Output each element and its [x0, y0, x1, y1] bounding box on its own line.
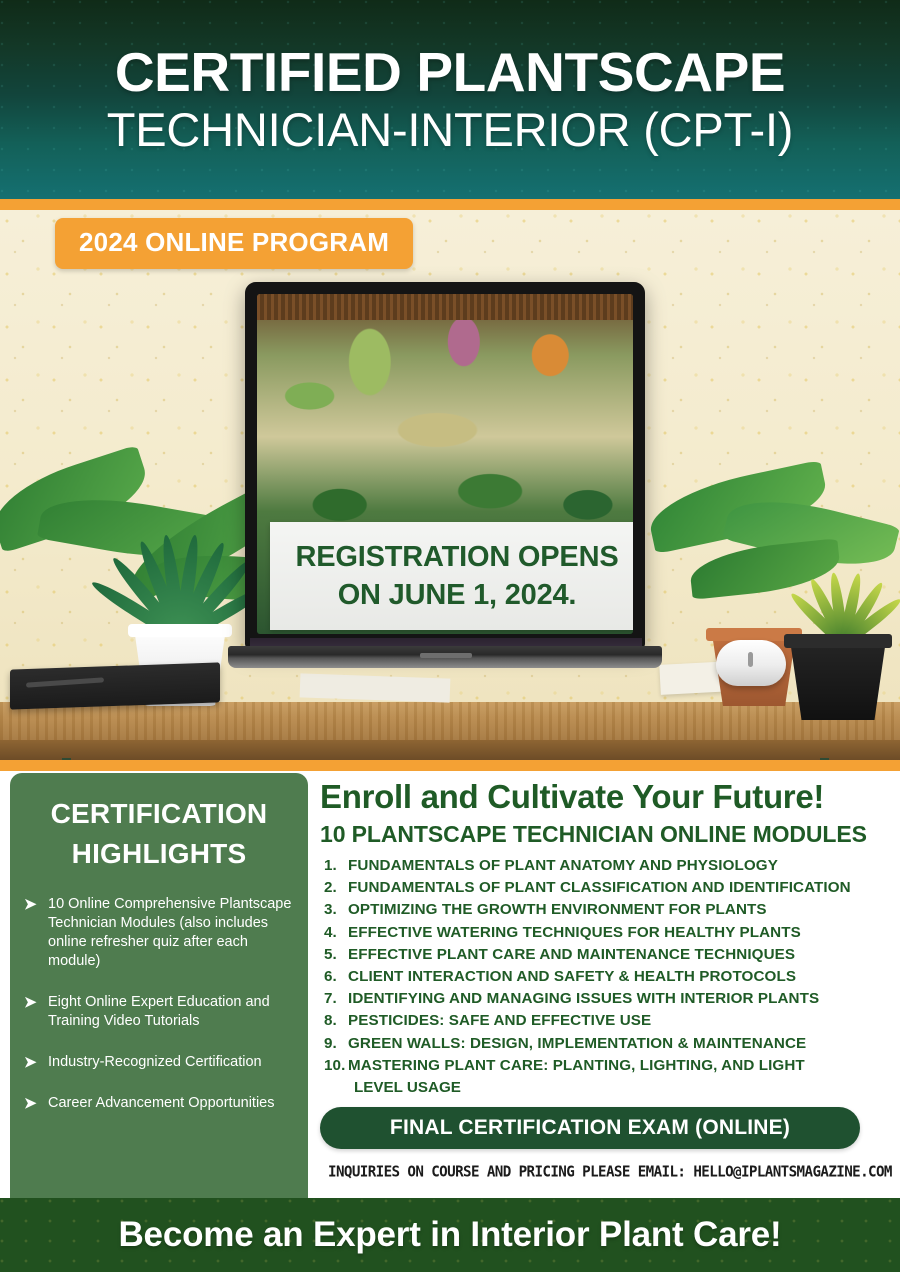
list-item: 1. FUNDAMENTALS OF PLANT ANATOMY AND PHY… [318, 855, 890, 877]
module-label: FUNDAMENTALS OF PLANT ANATOMY AND PHYSIO… [348, 855, 890, 877]
module-number: 6. [318, 966, 348, 988]
module-number: 1. [318, 855, 348, 877]
arrow-bullet-icon: ➤ [24, 994, 41, 1012]
registration-line-1: REGISTRATION OPENS [296, 538, 619, 576]
module-number: 10. [318, 1055, 348, 1077]
black-plant-pot [790, 640, 886, 720]
module-label: EFFECTIVE WATERING TECHNIQUES FOR HEALTH… [348, 922, 890, 944]
arrow-bullet-icon: ➤ [24, 1095, 41, 1113]
module-number: 9. [318, 1033, 348, 1055]
banner-text: Become an Expert in Interior Plant Care! [118, 1215, 781, 1255]
hero-photo: REGISTRATION OPENS ON JUNE 1, 2024. 2024… [0, 210, 900, 760]
inquiries-email-line[interactable]: INQUIRIES ON COURSE AND PRICING PLEASE E… [328, 1163, 890, 1182]
black-plant-pot-rim [784, 634, 892, 648]
modules-subheading: 10 PLANTSCAPE TECHNICIAN ONLINE MODULES [320, 820, 890, 849]
module-number: 4. [318, 922, 348, 944]
computer-mouse [716, 640, 786, 686]
program-year-badge: 2024 ONLINE PROGRAM [55, 218, 413, 269]
list-item: 10. MASTERING PLANT CARE: PLANTING, LIGH… [318, 1055, 890, 1077]
bottom-banner: Become an Expert in Interior Plant Care! [0, 1198, 900, 1272]
desk-edge [0, 740, 900, 760]
module-number: 8. [318, 1010, 348, 1032]
module-label: MASTERING PLANT CARE: PLANTING, LIGHTING… [348, 1055, 890, 1077]
sansevieria-plant [806, 566, 880, 644]
module-label: EFFECTIVE PLANT CARE AND MAINTENANCE TEC… [348, 944, 890, 966]
divider-top [0, 199, 900, 210]
arrow-bullet-icon: ➤ [24, 896, 41, 914]
highlight-text: Career Advancement Opportunities [48, 1094, 275, 1113]
module-number: 5. [318, 944, 348, 966]
divider-bottom [0, 760, 900, 771]
module-label: IDENTIFYING AND MANAGING ISSUES WITH INT… [348, 988, 890, 1010]
module-number: 3. [318, 899, 348, 921]
page-title-line1: CERTIFIED PLANTSCAPE [115, 43, 785, 102]
list-item: ➤ Eight Online Expert Education and Trai… [24, 993, 294, 1031]
list-item: 6. CLIENT INTERACTION AND SAFETY & HEALT… [318, 966, 890, 988]
list-item: ➤ Industry-Recognized Certification [24, 1053, 294, 1072]
registration-notice-panel: REGISTRATION OPENS ON JUNE 1, 2024. [270, 522, 633, 630]
module-label: GREEN WALLS: DESIGN, IMPLEMENTATION & MA… [348, 1033, 890, 1055]
header-title-group: CERTIFIED PLANTSCAPE TECHNICIAN-INTERIOR… [0, 0, 900, 199]
enroll-heading: Enroll and Cultivate Your Future! [320, 777, 890, 816]
module-number: 7. [318, 988, 348, 1010]
arrow-bullet-icon: ➤ [24, 1054, 41, 1072]
laptop-display: REGISTRATION OPENS ON JUNE 1, 2024. [257, 294, 633, 634]
registration-line-2: ON JUNE 1, 2024. [338, 576, 577, 614]
lower-content: CERTIFICATION HIGHLIGHTS ➤ 10 Online Com… [0, 771, 900, 1201]
highlights-title-line1: CERTIFICATION [10, 791, 308, 831]
page-title-line2: TECHNICIAN-INTERIOR (CPT-I) [107, 104, 794, 156]
final-exam-button-label: FINAL CERTIFICATION EXAM (ONLINE) [390, 1116, 790, 1140]
list-item: 4. EFFECTIVE WATERING TECHNIQUES FOR HEA… [318, 922, 890, 944]
list-item: 3. OPTIMIZING THE GROWTH ENVIRONMENT FOR… [318, 899, 890, 921]
highlight-text: 10 Online Comprehensive Plantscape Techn… [48, 895, 294, 971]
list-item: 9. GREEN WALLS: DESIGN, IMPLEMENTATION &… [318, 1033, 890, 1055]
module-label-continuation: LEVEL USAGE [318, 1077, 890, 1099]
modules-section: Enroll and Cultivate Your Future! 10 PLA… [318, 771, 890, 1201]
laptop-trackpad [420, 653, 472, 658]
list-item: 2. FUNDAMENTALS OF PLANT CLASSIFICATION … [318, 877, 890, 899]
certification-highlights-panel: CERTIFICATION HIGHLIGHTS ➤ 10 Online Com… [10, 773, 308, 1201]
flyer-page: CERTIFIED PLANTSCAPE TECHNICIAN-INTERIOR… [0, 0, 900, 1272]
module-label: FUNDAMENTALS OF PLANT CLASSIFICATION AND… [348, 877, 890, 899]
module-label: PESTICIDES: SAFE AND EFFECTIVE USE [348, 1010, 890, 1032]
white-plant-pot-rim [128, 624, 232, 637]
list-item: 7. IDENTIFYING AND MANAGING ISSUES WITH … [318, 988, 890, 1010]
list-item: 5. EFFECTIVE PLANT CARE AND MAINTENANCE … [318, 944, 890, 966]
program-year-badge-label: 2024 ONLINE PROGRAM [79, 227, 389, 257]
module-label: CLIENT INTERACTION AND SAFETY & HEALTH P… [348, 966, 890, 988]
highlights-list: ➤ 10 Online Comprehensive Plantscape Tec… [10, 895, 308, 1113]
module-number: 2. [318, 877, 348, 899]
module-label: OPTIMIZING THE GROWTH ENVIRONMENT FOR PL… [348, 899, 890, 921]
list-item: 8. PESTICIDES: SAFE AND EFFECTIVE USE [318, 1010, 890, 1032]
highlight-text: Industry-Recognized Certification [48, 1053, 262, 1072]
list-item: ➤ 10 Online Comprehensive Plantscape Tec… [24, 895, 294, 971]
list-item: ➤ Career Advancement Opportunities [24, 1094, 294, 1113]
laptop-screen-lid: REGISTRATION OPENS ON JUNE 1, 2024. [245, 282, 645, 648]
highlights-title-line2: HIGHLIGHTS [10, 831, 308, 871]
modules-list: 1. FUNDAMENTALS OF PLANT ANATOMY AND PHY… [318, 855, 890, 1077]
highlight-text: Eight Online Expert Education and Traini… [48, 993, 294, 1031]
jungle-ceiling-slats [257, 294, 633, 320]
final-exam-button[interactable]: FINAL CERTIFICATION EXAM (ONLINE) [320, 1107, 860, 1149]
header-banner: CERTIFIED PLANTSCAPE TECHNICIAN-INTERIOR… [0, 0, 900, 199]
